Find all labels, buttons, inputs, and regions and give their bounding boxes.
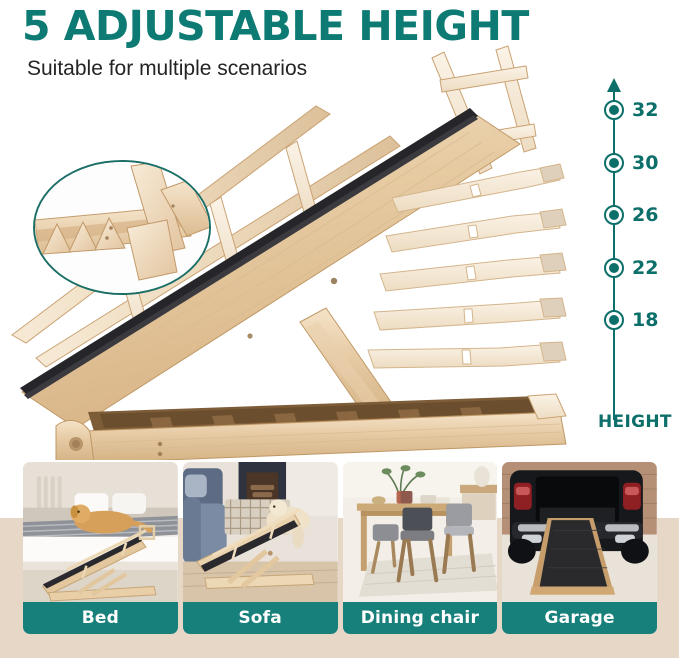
height-scale: 32 30 26 22 18 HEIGHT <box>598 78 678 428</box>
scenario-card-label: Garage <box>502 602 657 634</box>
scenario-photo-sofa <box>183 462 338 602</box>
scale-tick-26[interactable]: 26 <box>604 205 664 225</box>
scale-tick-label: 26 <box>632 204 658 226</box>
scale-tick-label: 18 <box>632 309 658 331</box>
scale-dot-icon <box>604 100 624 120</box>
scenario-photo-garage <box>502 462 657 602</box>
scenario-card-label: Bed <box>23 602 178 634</box>
scale-dot-icon <box>604 153 624 173</box>
scale-dot-icon <box>604 310 624 330</box>
scenario-photo-dining-chair <box>343 462 498 602</box>
scale-tick-30[interactable]: 30 <box>604 153 664 173</box>
scenario-card-row: Bed <box>23 462 657 634</box>
scale-tick-label: 32 <box>632 99 658 121</box>
detail-magnifier-inset <box>33 160 211 295</box>
scale-tick-label: 22 <box>632 257 658 279</box>
scale-axis-line <box>613 90 615 420</box>
scale-tick-32[interactable]: 32 <box>604 100 664 120</box>
scale-dot-icon <box>604 258 624 278</box>
scale-dot-icon <box>604 205 624 225</box>
scenario-card-sofa[interactable]: Sofa <box>183 462 338 634</box>
scenario-card-dining-chair[interactable]: Dining chair <box>343 462 498 634</box>
scale-tick-label: 30 <box>632 152 658 174</box>
scale-tick-18[interactable]: 18 <box>604 310 664 330</box>
scenario-card-garage[interactable]: Garage <box>502 462 657 634</box>
scale-tick-22[interactable]: 22 <box>604 258 664 278</box>
scenario-card-label: Sofa <box>183 602 338 634</box>
scenario-card-label: Dining chair <box>343 602 498 634</box>
scenario-photo-bed <box>23 462 178 602</box>
scenario-card-bed[interactable]: Bed <box>23 462 178 634</box>
height-axis-label: HEIGHT <box>598 412 672 432</box>
